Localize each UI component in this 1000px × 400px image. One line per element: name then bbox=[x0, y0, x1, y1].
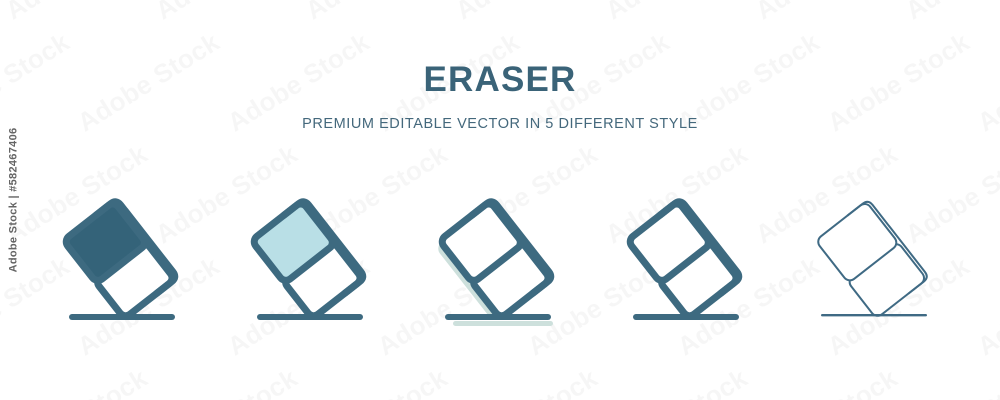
watermark-text: Adobe Stock bbox=[900, 363, 1000, 400]
stock-credit-label: Adobe Stock | #582467406 bbox=[7, 128, 19, 273]
eraser-baseline bbox=[69, 314, 175, 320]
eraser-icon-filled bbox=[65, 201, 183, 326]
eraser-baseline bbox=[821, 314, 927, 316]
eraser-body bbox=[251, 199, 365, 318]
eraser-body bbox=[439, 199, 553, 318]
watermark-text: Adobe Stock bbox=[300, 363, 453, 400]
icon-variant-thin-line[interactable] bbox=[801, 196, 951, 331]
eraser-baseline bbox=[633, 314, 739, 320]
watermark-text: Adobe Stock bbox=[600, 363, 753, 400]
icon-variant-filled[interactable] bbox=[49, 196, 199, 331]
eraser-icon-thin-line bbox=[817, 201, 935, 326]
icon-preview-canvas: Adobe StockAdobe StockAdobe StockAdobe S… bbox=[0, 0, 1000, 400]
header: ERASER PREMIUM EDITABLE VECTOR IN 5 DIFF… bbox=[0, 0, 1000, 132]
eraser-icon-shadow bbox=[441, 201, 559, 326]
eraser-shadow-baseline bbox=[453, 321, 553, 326]
icon-variant-shadow[interactable] bbox=[425, 196, 575, 331]
eraser-icon-two-color bbox=[253, 201, 371, 326]
eraser-baseline bbox=[445, 314, 551, 320]
icon-variant-row bbox=[0, 196, 1000, 331]
icon-variant-two-color[interactable] bbox=[237, 196, 387, 331]
stock-credit: Adobe Stock | #582467406 bbox=[2, 0, 24, 400]
page-subtitle: PREMIUM EDITABLE VECTOR IN 5 DIFFERENT S… bbox=[0, 97, 1000, 132]
watermark-text: Adobe Stock bbox=[150, 363, 303, 400]
eraser-icon-outline bbox=[629, 201, 747, 326]
eraser-baseline bbox=[257, 314, 363, 320]
eraser-body bbox=[63, 199, 177, 318]
icon-variant-outline[interactable] bbox=[613, 196, 763, 331]
eraser-body bbox=[627, 199, 741, 318]
page-title: ERASER bbox=[0, 0, 1000, 97]
watermark-text: Adobe Stock bbox=[450, 363, 603, 400]
eraser-body bbox=[815, 199, 929, 318]
watermark-text: Adobe Stock bbox=[750, 363, 903, 400]
